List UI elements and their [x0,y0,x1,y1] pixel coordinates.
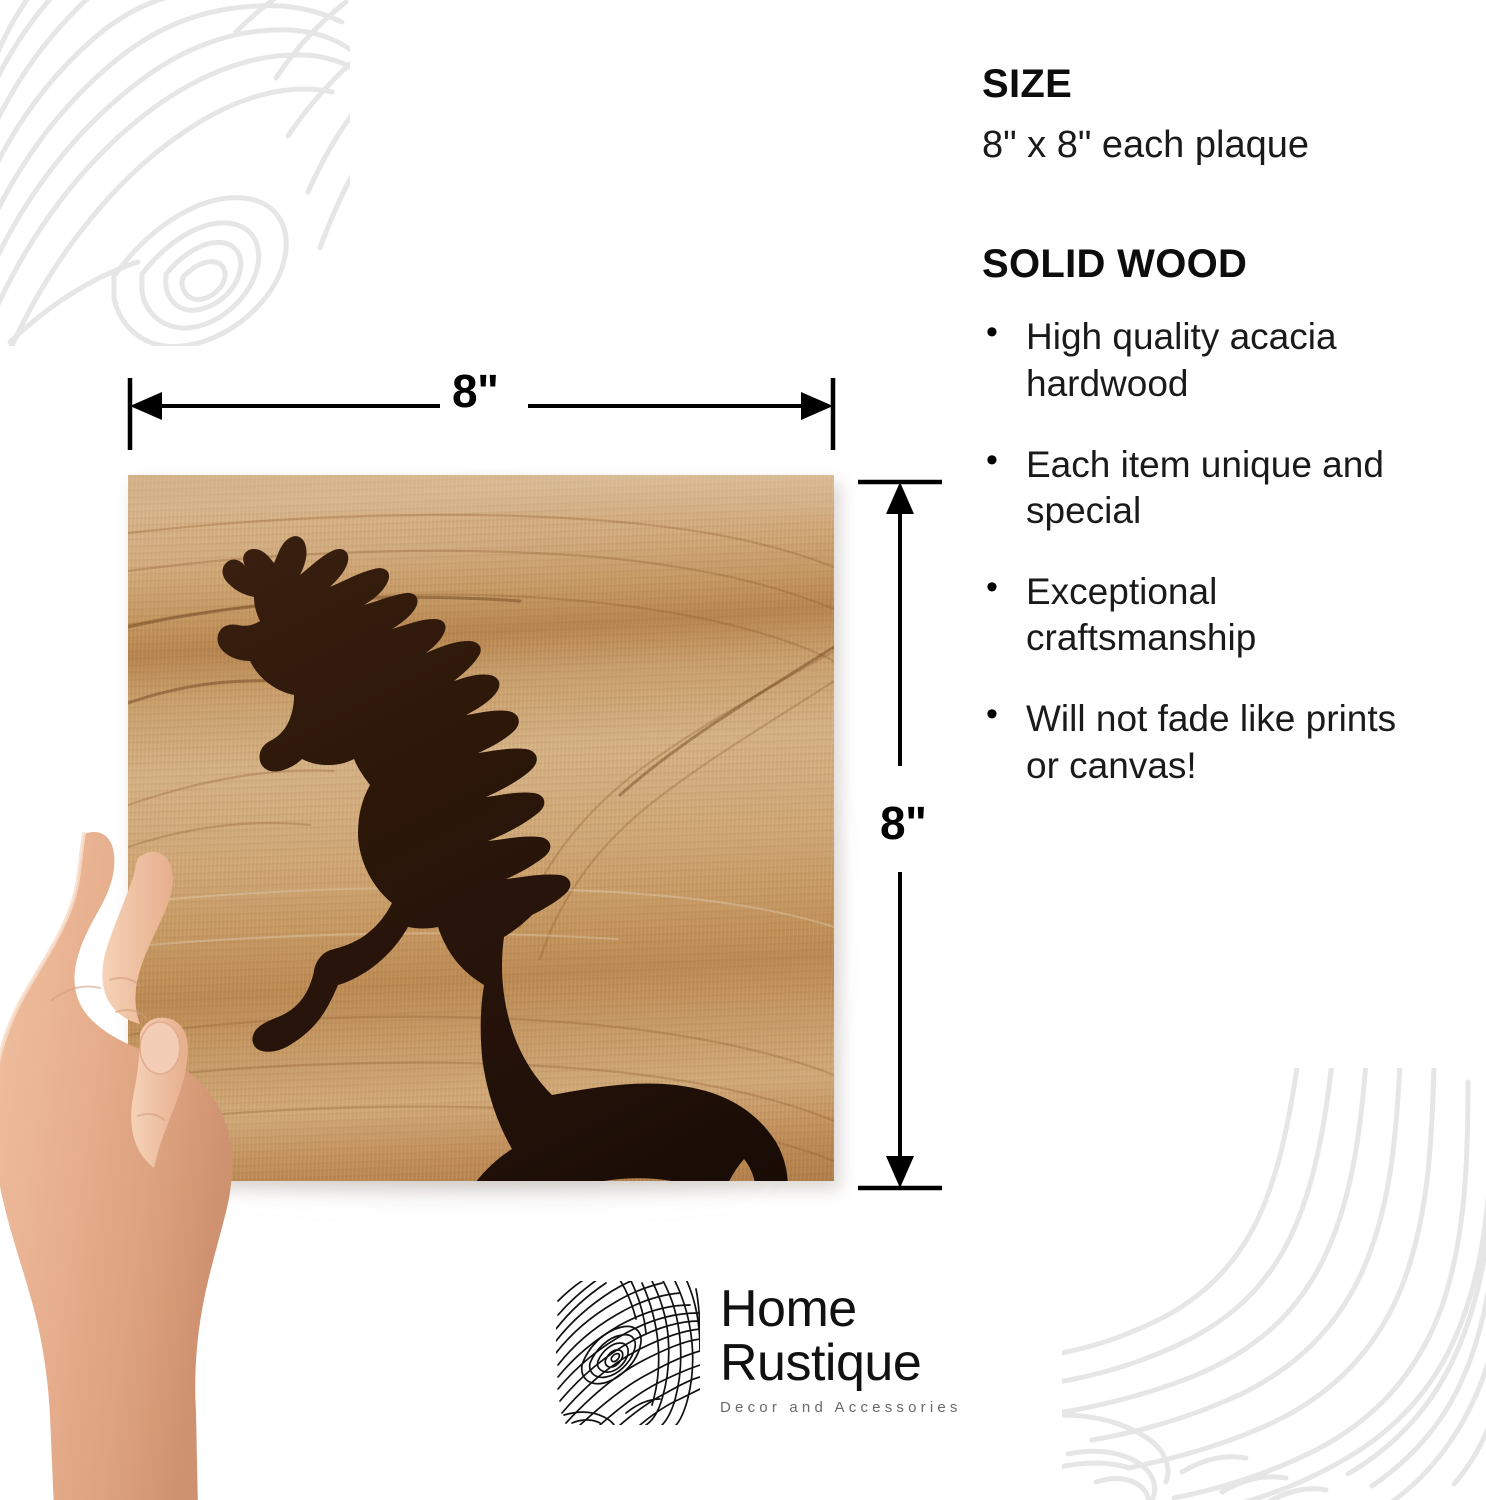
product-infographic: 8" 8" SIZE 8" x 8" each plaque SOLID WOO… [0,0,1486,1500]
width-dimension-label: 8" [452,368,498,414]
feature-list: High quality acacia hardwood Each item u… [982,314,1434,789]
list-item: Exceptional craftsmanship [982,569,1434,662]
product-image-area: 8" 8" [0,0,960,1260]
size-value: 8" x 8" each plaque [982,122,1434,168]
hand-holding-plaque [0,820,318,1500]
brand-logo: Home Rustique Decor and Accessories [556,1281,956,1451]
product-details-panel: SIZE 8" x 8" each plaque SOLID WOOD High… [982,62,1434,823]
brand-name-line1: Home [720,1283,962,1337]
solid-wood-heading: SOLID WOOD [982,242,1434,286]
brand-name-line2: Rustique [720,1337,962,1391]
wood-grain-logo-icon [556,1281,700,1425]
height-dimension-label: 8" [880,800,926,846]
list-item: High quality acacia hardwood [982,314,1434,407]
brand-text: Home Rustique Decor and Accessories [720,1281,962,1416]
brand-tagline: Decor and Accessories [720,1399,962,1416]
list-item: Each item unique and special [982,442,1434,535]
size-heading: SIZE [982,62,1434,106]
wood-grain-decor-bottom-right-icon [1062,1068,1486,1500]
list-item: Will not fade like prints or canvas! [982,696,1434,789]
